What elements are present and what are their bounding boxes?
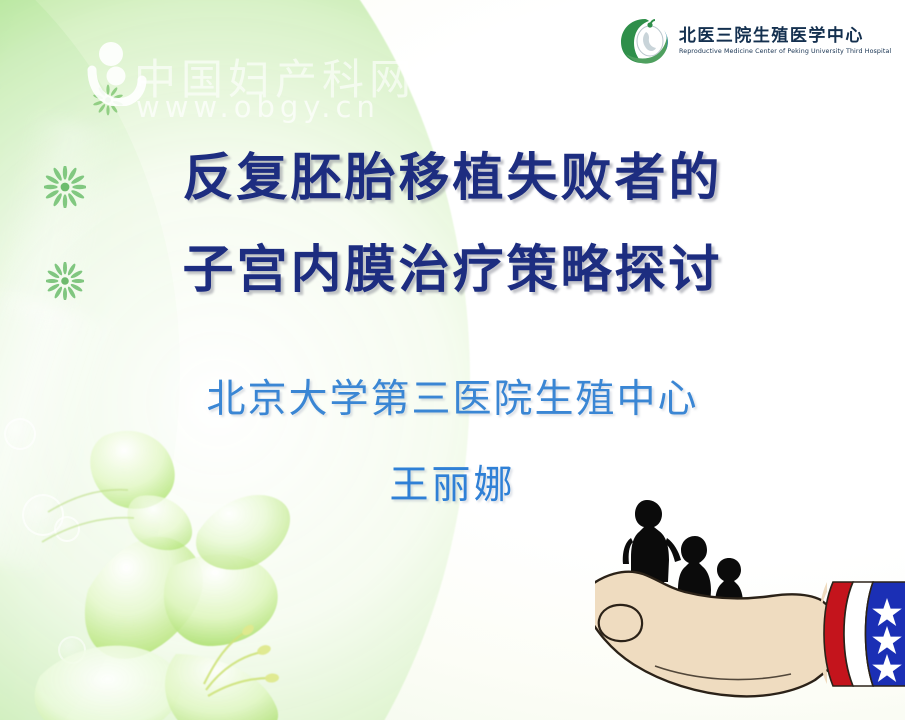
starburst-flower-icon bbox=[46, 262, 84, 300]
hand-holding-family-clipart bbox=[595, 470, 905, 720]
starburst-flower-icon bbox=[44, 166, 86, 208]
flag-cuff bbox=[818, 582, 905, 686]
starburst-flower-icon bbox=[92, 84, 124, 116]
hospital-name-en: Reproductive Medicine Center of Peking U… bbox=[679, 48, 891, 55]
lily-bud-decoration bbox=[8, 392, 198, 582]
hospital-logo-text: 北医三院生殖医学中心 Reproductive Medicine Center … bbox=[679, 27, 887, 56]
hospital-name-cn: 北医三院生殖医学中心 bbox=[679, 27, 887, 47]
presentation-slide: 中国妇产科网 www.obgy.cn 北医三院生殖医学中心 Reproducti… bbox=[0, 0, 905, 720]
reproductive-center-swoosh-logo-icon bbox=[618, 16, 672, 66]
open-hand bbox=[595, 572, 833, 697]
hospital-logo: 北医三院生殖医学中心 Reproductive Medicine Center … bbox=[618, 16, 887, 66]
